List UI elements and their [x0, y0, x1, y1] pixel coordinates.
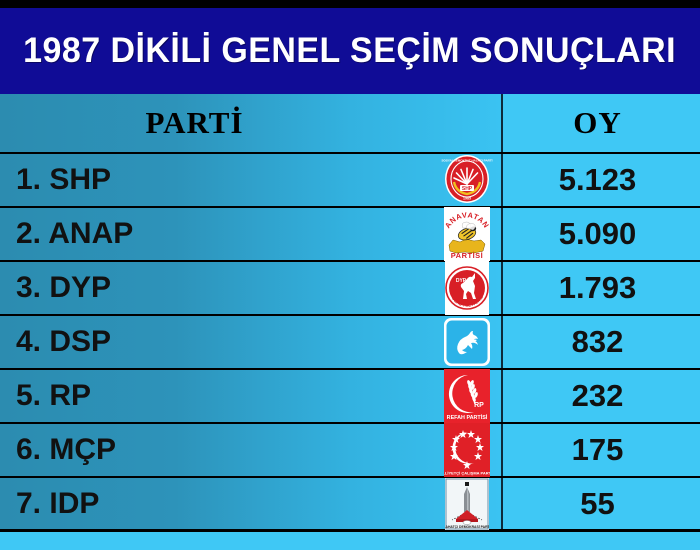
svg-text:RP: RP: [474, 402, 484, 409]
table-row: 3. DYP DYP DOĞRU YOL PARTİSİ: [0, 262, 700, 316]
cell-oy: 175: [503, 424, 700, 476]
column-header-party: PARTİ: [145, 105, 243, 141]
party-label: 2. ANAP: [16, 217, 133, 251]
results-table: PARTİ OY 1. SHP: [0, 94, 700, 542]
cell-party: 2. ANAP ANAVATAN: [0, 208, 503, 260]
svg-text:SOSYALDEMOKRAT HALKÇI PARTİ: SOSYALDEMOKRAT HALKÇI PARTİ: [442, 158, 493, 163]
oy-value: 175: [572, 432, 624, 468]
cell-party: 1. SHP: [0, 154, 503, 206]
table-row: 5. RP: [0, 370, 700, 424]
oy-value: 55: [580, 486, 614, 522]
oy-value: 1.793: [559, 270, 637, 306]
svg-text:SHP: SHP: [462, 186, 473, 192]
party-label: 6. MÇP: [16, 433, 116, 467]
oy-value: 5.090: [559, 216, 637, 252]
svg-text:1985: 1985: [463, 197, 471, 201]
cell-oy: 5.090: [503, 208, 700, 260]
top-divider: [0, 0, 700, 8]
party-label: 4. DSP: [16, 325, 111, 359]
table-row: 7. IDP: [0, 478, 700, 532]
table-row: 4. DSP 832: [0, 316, 700, 370]
mcp-logo-icon: MİLLİYETÇİ ÇALIŞMA PARTİSİ: [437, 423, 497, 477]
title-banner: 1987 DİKİLİ GENEL SEÇİM SONUÇLARI: [0, 8, 700, 94]
party-label: 3. DYP: [16, 271, 111, 305]
svg-text:ISLAHATÇI DEMOKRASİ PARTİSİ: ISLAHATÇI DEMOKRASİ PARTİSİ: [445, 525, 489, 529]
anap-logo-icon: ANAVATAN PARTİSİ: [437, 207, 497, 261]
table-header-row: PARTİ OY: [0, 94, 700, 154]
idp-logo-icon: ISLAHATÇI DEMOKRASİ PARTİSİ: [437, 477, 497, 531]
cell-oy: 5.123: [503, 154, 700, 206]
rp-logo-icon: RP REFAH PARTİSİ: [437, 369, 497, 423]
svg-text:REFAH PARTİSİ: REFAH PARTİSİ: [447, 414, 488, 421]
cell-oy: 232: [503, 370, 700, 422]
oy-value: 5.123: [559, 162, 637, 198]
table-row: 1. SHP: [0, 154, 700, 208]
oy-value: 832: [572, 324, 624, 360]
shp-logo-icon: SHP 1985 SOSYALDEMOKRAT HALKÇI PARTİ: [437, 153, 497, 207]
dsp-logo-icon: [437, 315, 497, 369]
cell-oy: 832: [503, 316, 700, 368]
cell-party: 5. RP: [0, 370, 503, 422]
cell-party: 6. MÇP: [0, 424, 503, 476]
header-cell-party: PARTİ: [0, 94, 503, 152]
dyp-logo-icon: DYP DOĞRU YOL PARTİSİ: [437, 261, 497, 315]
party-label: 1. SHP: [16, 163, 111, 197]
header-cell-oy: OY: [503, 94, 700, 152]
slide-root: 1987 DİKİLİ GENEL SEÇİM SONUÇLARI PARTİ …: [0, 0, 700, 550]
party-label: 7. IDP: [16, 487, 99, 521]
svg-text:MİLLİYETÇİ ÇALIŞMA PARTİSİ: MİLLİYETÇİ ÇALIŞMA PARTİSİ: [444, 471, 490, 476]
page-title: 1987 DİKİLİ GENEL SEÇİM SONUÇLARI: [23, 31, 676, 71]
column-header-oy: OY: [573, 105, 622, 141]
cell-party: 7. IDP: [0, 478, 503, 529]
cell-party: 4. DSP: [0, 316, 503, 368]
cell-party: 3. DYP DYP DOĞRU YOL PARTİSİ: [0, 262, 503, 314]
cell-oy: 1.793: [503, 262, 700, 314]
oy-value: 232: [572, 378, 624, 414]
table-row: 2. ANAP ANAVATAN: [0, 208, 700, 262]
party-label: 5. RP: [16, 379, 91, 413]
table-row: 6. MÇP: [0, 424, 700, 478]
cell-oy: 55: [503, 478, 700, 529]
svg-text:PARTİSİ: PARTİSİ: [451, 251, 484, 260]
